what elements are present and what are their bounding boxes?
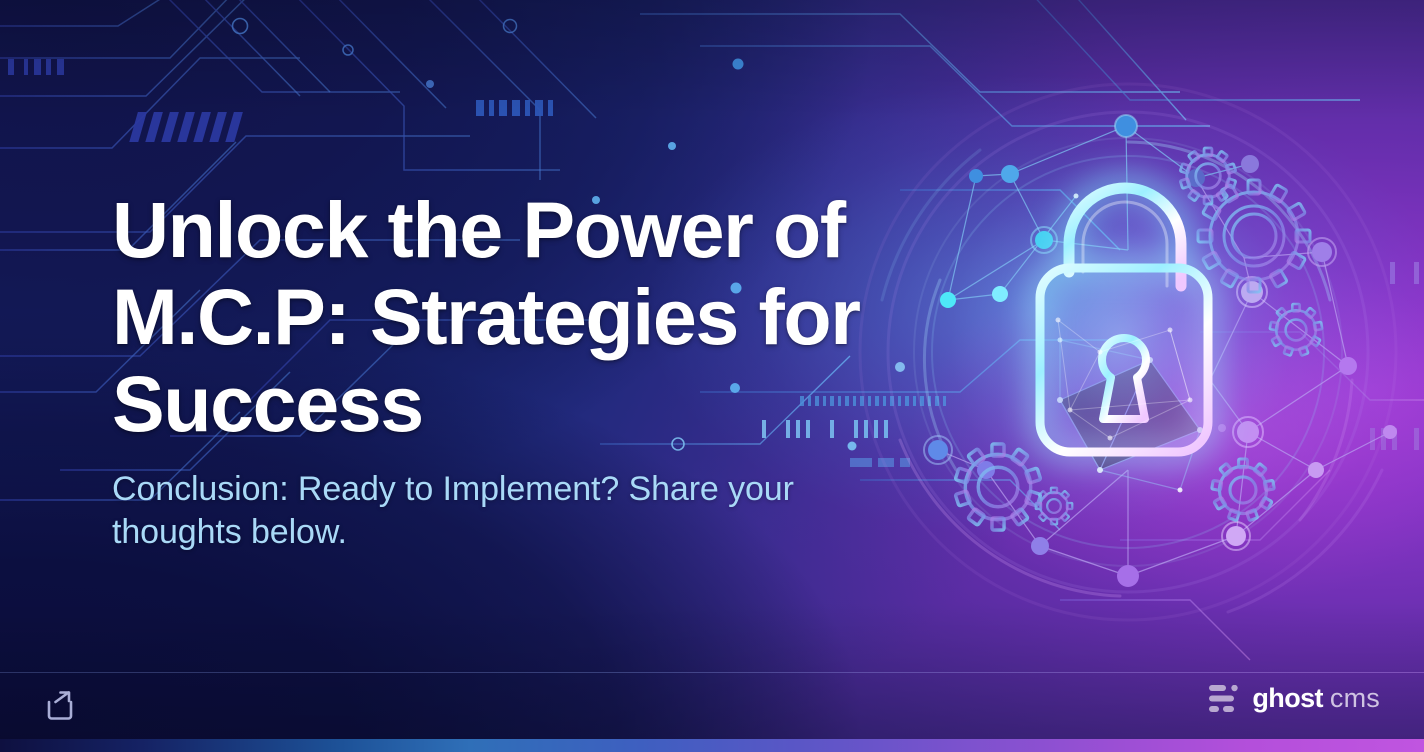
ghost-logo-icon [1209, 685, 1239, 712]
share-button[interactable] [42, 688, 78, 724]
social-card: Unlock the Power of M.C.P: Strategies fo… [0, 0, 1424, 752]
brand-lockup[interactable]: ghostcms [1209, 685, 1380, 712]
bottom-gradient-bar [0, 739, 1424, 752]
brand-suffix: cms [1330, 683, 1380, 713]
card-text-block: Unlock the Power of M.C.P: Strategies fo… [112, 186, 972, 554]
brand-text: ghostcms [1252, 685, 1380, 712]
page-subtitle: Conclusion: Ready to Implement? Share yo… [112, 468, 912, 554]
share-icon [42, 688, 78, 724]
card-footer: ghostcms [0, 673, 1424, 739]
page-title: Unlock the Power of M.C.P: Strategies fo… [112, 186, 972, 447]
brand-name: ghost [1252, 683, 1323, 713]
